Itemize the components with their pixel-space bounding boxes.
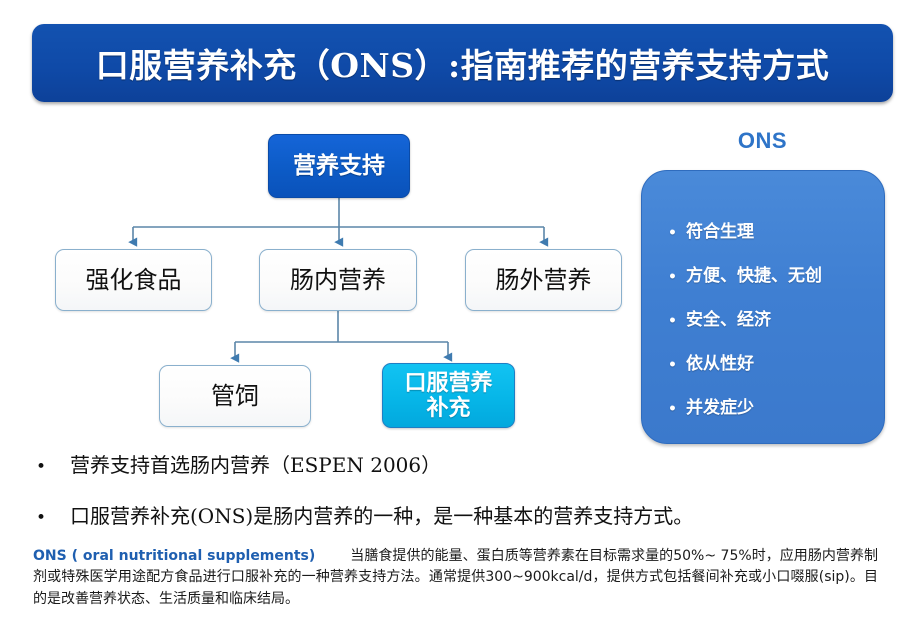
tree-node-parenteral-nutrition[interactable]: 肠外营养: [465, 249, 622, 311]
tree-node-enteral-nutrition[interactable]: 肠内营养: [259, 249, 417, 311]
tree-node-oral-nutritional-supplement[interactable]: 口服营养 补充: [382, 363, 515, 428]
list-item: • 符合生理: [668, 217, 884, 242]
bullet-dot-icon: •: [668, 226, 686, 240]
list-item: • 方便、快捷、无创: [668, 261, 884, 286]
bullet-dot-icon: •: [668, 314, 686, 328]
bullet-dot-icon: •: [36, 457, 70, 477]
footnote-heading: ONS ( oral nutritional supplements): [33, 548, 315, 564]
bullet-dot-icon: •: [668, 402, 686, 416]
tree-node-label-line2: 补充: [426, 396, 470, 421]
tree-node-nutrition-support[interactable]: 营养支持: [268, 134, 410, 198]
page-title: 口服营养补充（ONS）:指南推荐的营养支持方式: [96, 39, 829, 87]
tree-node-label: 营养支持: [293, 153, 385, 179]
tree-node-label: 强化食品: [86, 267, 182, 294]
tree-node-label: 肠外营养: [496, 267, 592, 294]
list-item-label: 方便、快捷、无创: [686, 261, 822, 286]
ons-benefits-panel: • 符合生理 • 方便、快捷、无创 • 安全、经济 • 依从性好 • 并发症少: [641, 170, 885, 444]
list-item-label: 并发症少: [686, 393, 754, 418]
tree-node-label: 管饲: [211, 383, 259, 410]
bullet-dot-icon: •: [36, 508, 70, 528]
main-bullet-label: 营养支持首选肠内营养（ESPEN 2006）: [70, 449, 441, 478]
list-item-label: 依从性好: [686, 349, 754, 374]
main-bullet-espen: • 营养支持首选肠内营养（ESPEN 2006）: [36, 449, 441, 478]
ons-benefits-list: • 符合生理 • 方便、快捷、无创 • 安全、经济 • 依从性好 • 并发症少: [642, 217, 884, 418]
tree-node-label: 肠内营养: [290, 267, 386, 294]
nutrition-support-tree-diagram: 营养支持 强化食品 肠内营养 肠外营养 管饲 口服营养 补充: [0, 110, 640, 450]
list-item: • 依从性好: [668, 349, 884, 374]
main-bullet-label: 口服营养补充(ONS)是肠内营养的一种，是一种基本的营养支持方式。: [70, 500, 693, 529]
ons-panel-title: ONS: [640, 128, 885, 154]
bullet-dot-icon: •: [668, 270, 686, 284]
list-item: • 安全、经济: [668, 305, 884, 330]
list-item-label: 符合生理: [686, 217, 754, 242]
tree-node-fortified-food[interactable]: 强化食品: [55, 249, 212, 311]
main-bullet-ons-definition: • 口服营养补充(ONS)是肠内营养的一种，是一种基本的营养支持方式。: [36, 500, 693, 529]
tree-node-tube-feeding[interactable]: 管饲: [159, 365, 311, 427]
footnote-paragraph: ONS ( oral nutritional supplements) 当膳食提…: [33, 546, 878, 610]
tree-node-label-line1: 口服营养: [404, 371, 492, 396]
list-item: • 并发症少: [668, 393, 884, 418]
list-item-label: 安全、经济: [686, 305, 771, 330]
bullet-dot-icon: •: [668, 358, 686, 372]
slide-title-banner: 口服营养补充（ONS）:指南推荐的营养支持方式: [32, 24, 893, 102]
